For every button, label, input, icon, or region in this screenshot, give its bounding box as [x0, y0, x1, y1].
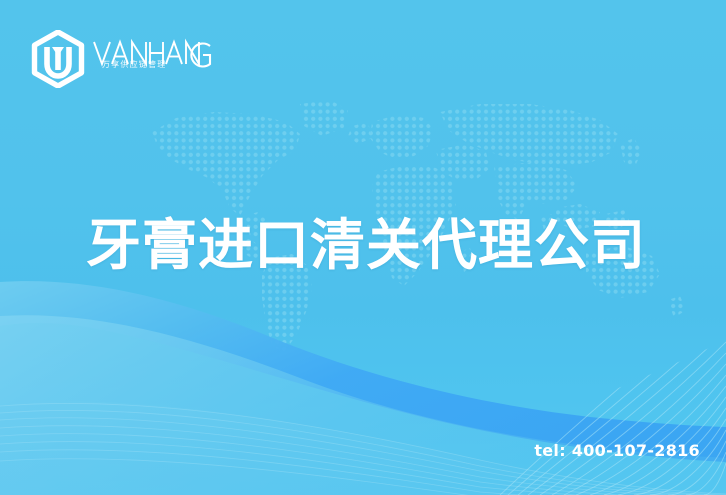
vanhang-hexagon-icon: [30, 30, 86, 88]
logo-text-block: 万享供应链管理: [92, 36, 212, 82]
contact-phone[interactable]: tel: 400-107-2816: [534, 441, 700, 460]
page-title: 牙膏进口清关代理公司: [86, 214, 646, 276]
promo-banner: 万享供应链管理 牙膏进口清关代理公司 tel: 400-107-2816: [0, 0, 726, 495]
logo-subtitle: 万享供应链管理: [102, 60, 166, 70]
brand-logo[interactable]: 万享供应链管理: [30, 30, 212, 88]
